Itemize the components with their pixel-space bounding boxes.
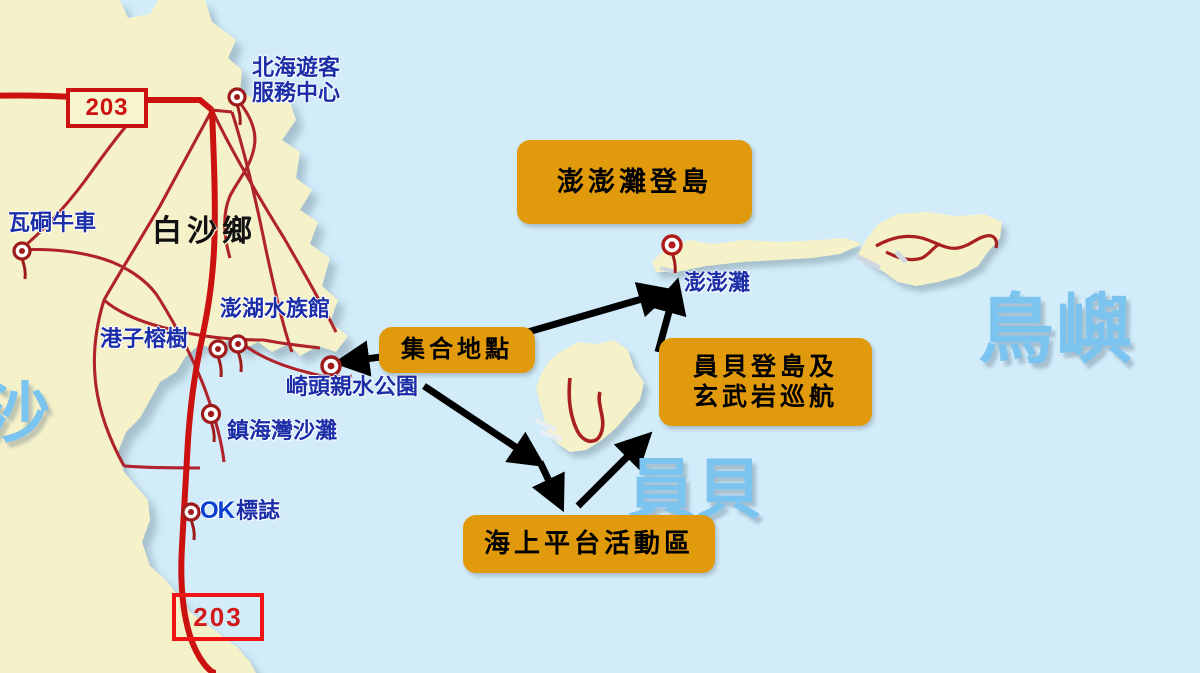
callout-gathering-point[interactable]: 集合地點 [379, 327, 535, 373]
poi-label-ok-sign[interactable]: OK 標誌 [200, 497, 278, 525]
map-canvas: 鳥嶼 員貝 沙 白沙鄉 203 203 北海遊客 服務中心 瓦硐牛車 澎湖水族館… [0, 0, 1200, 673]
poi-label-beihai-visitor-center[interactable]: 北海遊客 服務中心 [252, 56, 340, 105]
route-shield-203-north[interactable]: 203 [66, 88, 148, 128]
map-pin-icon[interactable] [229, 89, 245, 125]
watermark-shawan: 沙 [0, 360, 52, 456]
map-pin-icon[interactable] [14, 243, 30, 279]
watermark-niaoyu: 鳥嶼 [978, 268, 1134, 378]
poi-label-watong-oxcart[interactable]: 瓦硐牛車 [8, 211, 96, 236]
map-pin-icon[interactable] [203, 406, 220, 443]
ok-logo-text: OK [200, 497, 234, 525]
township-label: 白沙鄉 [152, 206, 257, 250]
map-pin-icon[interactable] [230, 336, 246, 372]
ok-sign-suffix: 標誌 [236, 499, 280, 524]
poi-label-pengpengtan[interactable]: 澎澎灘 [684, 271, 750, 296]
map-pin-icon[interactable] [183, 504, 199, 540]
callout-yuanbei-landing-basalt-cruise[interactable]: 員貝登島及 玄武岩巡航 [659, 338, 872, 426]
poi-label-gangzi-banyan[interactable]: 港子榕樹 [100, 327, 188, 352]
callout-pengpengtan-landing[interactable]: 澎澎灘登島 [517, 140, 752, 224]
map-pin-icon[interactable] [210, 341, 226, 377]
route-shield-203-south[interactable]: 203 [172, 593, 264, 641]
poi-label-zhenhai-bay-beach[interactable]: 鎮海灣沙灘 [227, 419, 337, 444]
poi-label-qitou-water-park[interactable]: 崎頭親水公園 [286, 375, 418, 400]
map-pin-icon[interactable] [663, 236, 681, 273]
callout-sea-platform-activity-area[interactable]: 海上平台活動區 [463, 515, 715, 573]
poi-label-penghu-aquarium[interactable]: 澎湖水族館 [220, 297, 330, 322]
